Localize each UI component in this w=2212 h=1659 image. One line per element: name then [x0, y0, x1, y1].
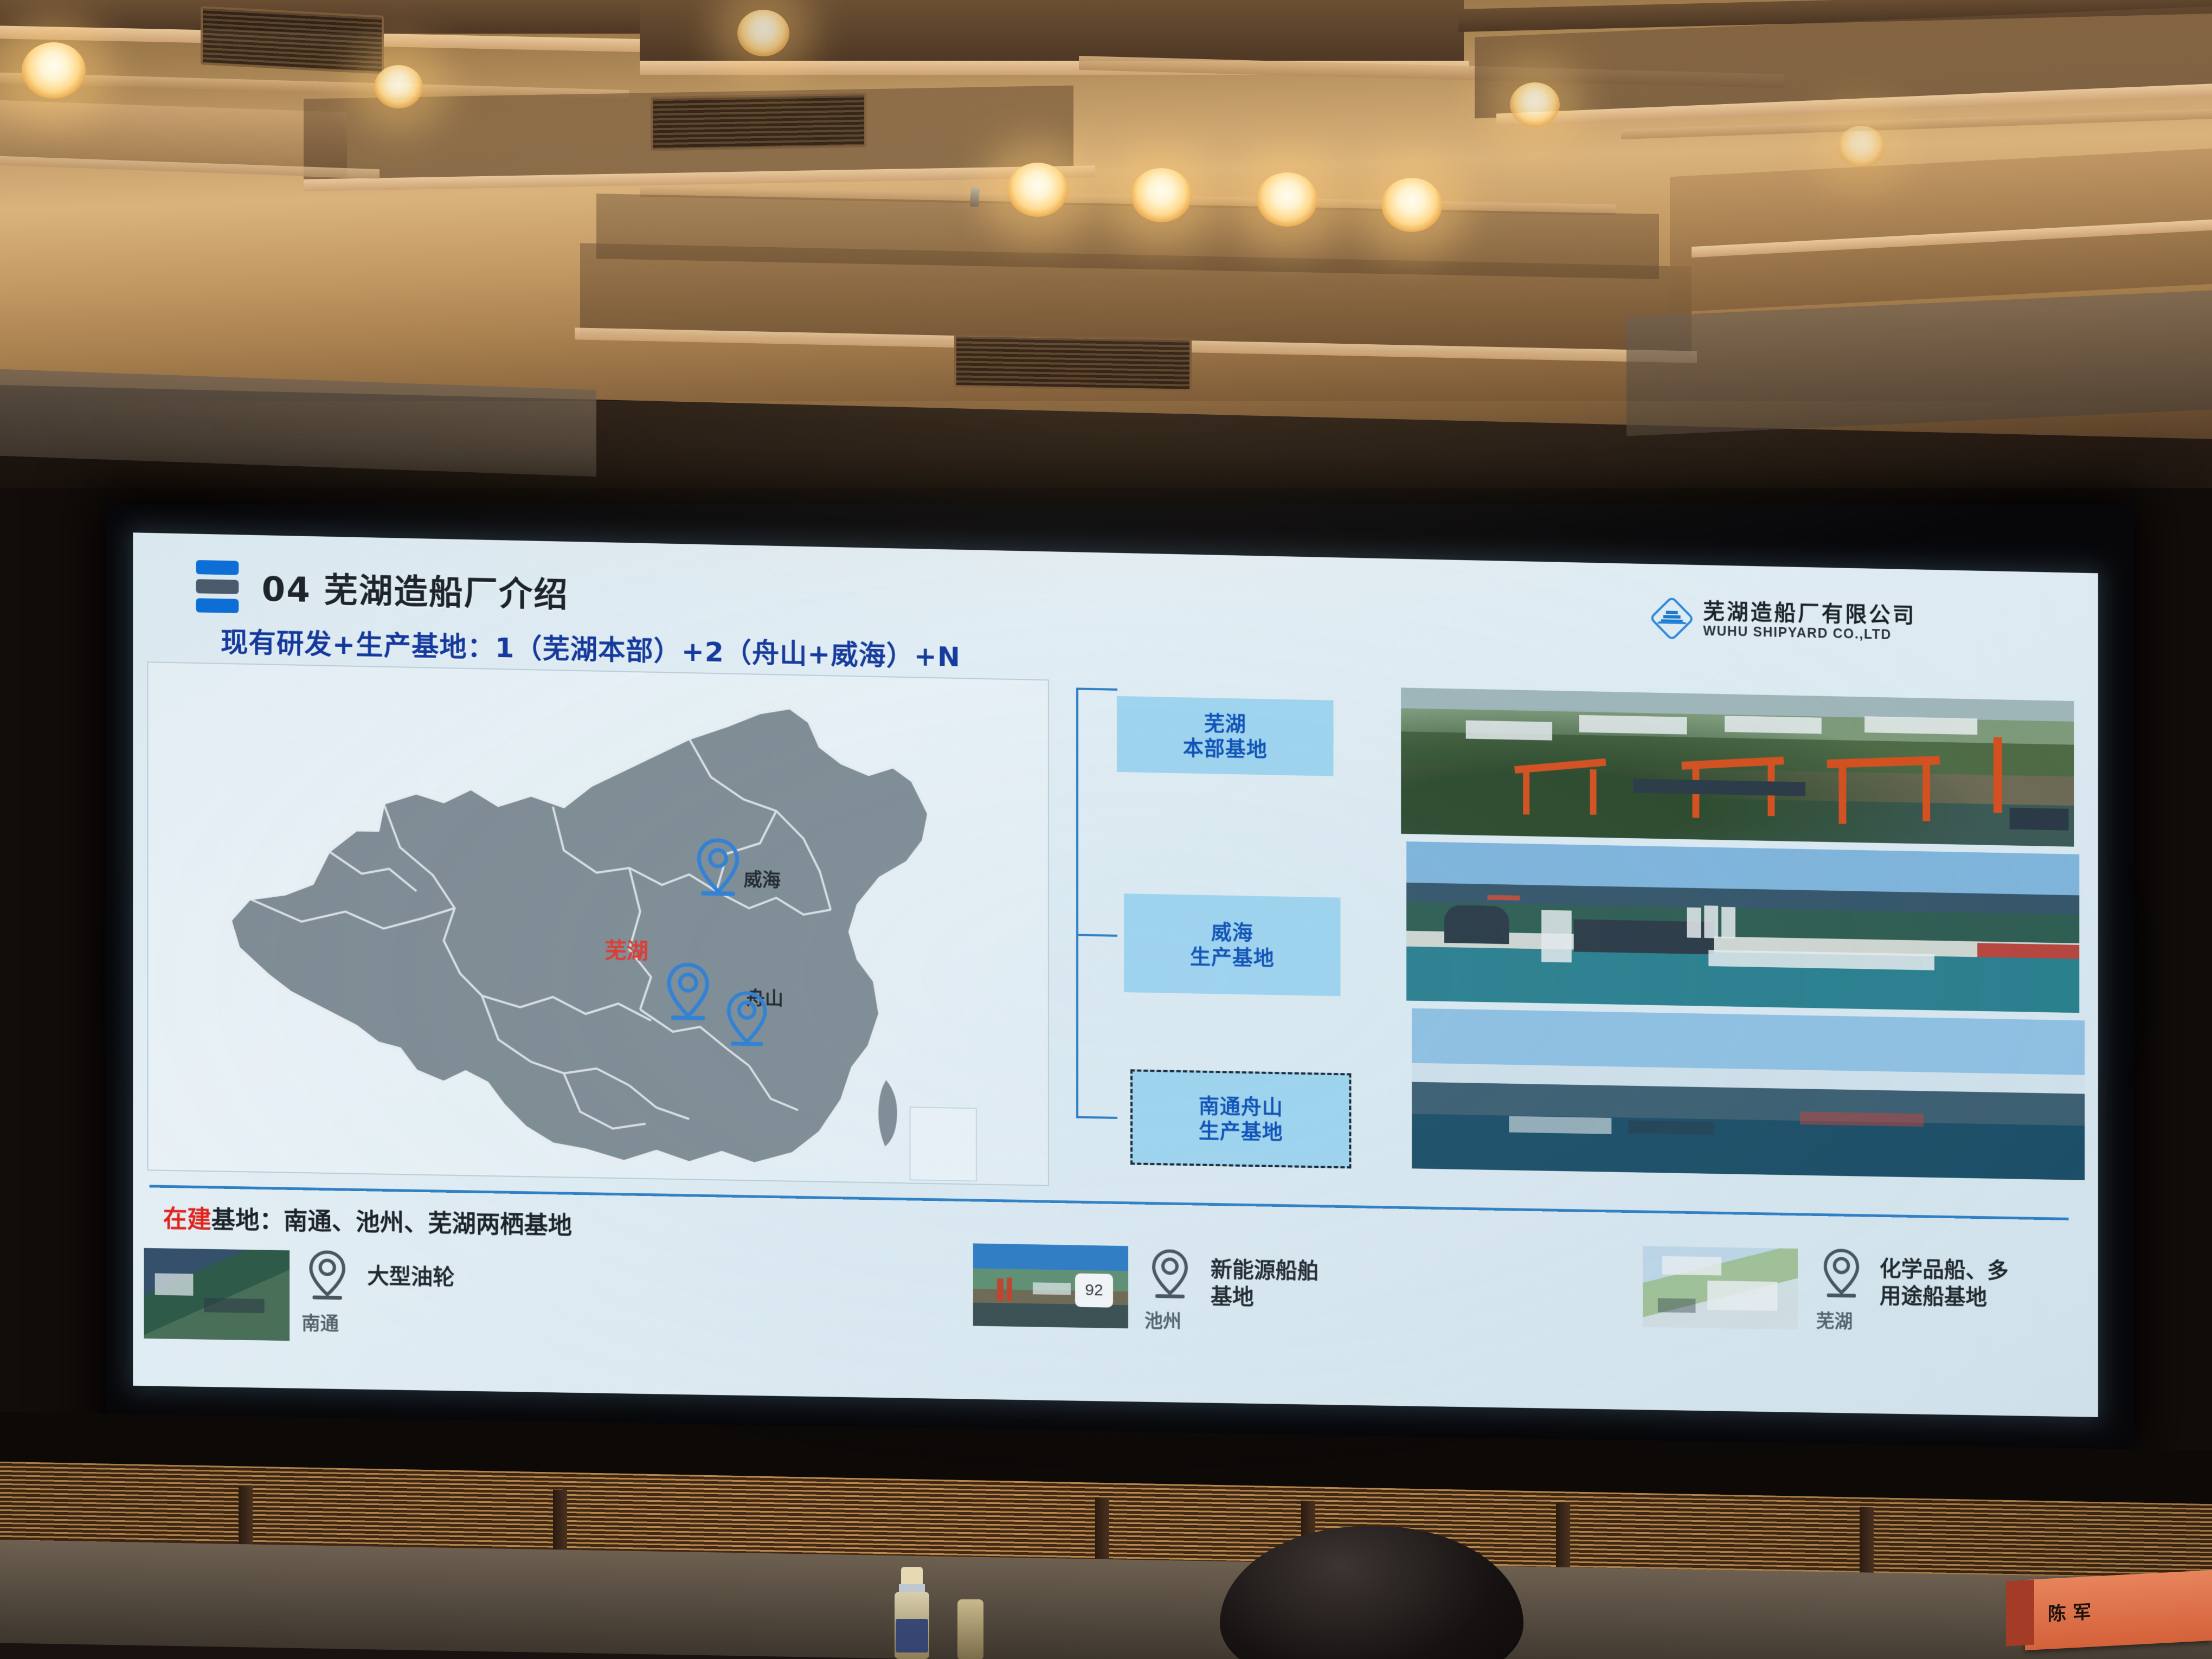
- pin-city-nantong: 南通: [301, 1308, 339, 1335]
- ceiling-light: [22, 42, 86, 99]
- name-card: 陈 军: [2025, 1570, 2212, 1650]
- ceiling-light: [1838, 126, 1885, 167]
- logo-company-cn: 芜湖造船厂有限公司: [1703, 600, 1916, 628]
- name-card-text: 陈 军: [2048, 1597, 2091, 1626]
- water-bottle: [889, 1567, 935, 1659]
- photo-wuhu-base: [1401, 687, 2074, 846]
- map-label-weihai: 威海: [744, 865, 781, 892]
- page-title: 04 芜湖造船厂介绍: [262, 561, 569, 616]
- node-line1: 芜湖: [1183, 710, 1268, 737]
- node-line2: 本部基地: [1183, 735, 1268, 762]
- map-label-wuhu: 芜湖: [605, 933, 648, 965]
- ship-diamond-logo-icon: [1649, 595, 1694, 641]
- under-construction-line: 在建基地：南通、池州、芜湖两栖基地: [163, 1199, 572, 1241]
- node-box-weihai[interactable]: 威海 生产基地: [1124, 893, 1340, 996]
- sprinkler-head: [970, 187, 980, 207]
- ceiling-vent: [651, 93, 866, 151]
- map-pin-weihai[interactable]: [695, 837, 741, 900]
- ceiling-light: [374, 65, 423, 108]
- map-pin-wuhu[interactable]: [665, 961, 711, 1025]
- photo-zhoushan-base: [1412, 1008, 2085, 1180]
- ceiling-light: [737, 10, 789, 56]
- south-china-sea-inset: [910, 1107, 977, 1181]
- pin-city-chizhou: 池州: [1144, 1306, 1181, 1333]
- thumb-badge-92: 92: [1075, 1274, 1113, 1308]
- three-bars-icon: [196, 560, 239, 613]
- node-box-nantong-zhoushan[interactable]: 南通舟山 生产基地: [1130, 1069, 1351, 1168]
- bottom-label-chizhou: 新能源船舶 基地: [1211, 1256, 1319, 1312]
- bottom-label-wuhu: 化学品船、多 用途船基地: [1880, 1256, 2009, 1312]
- photo-weihai-base: [1406, 841, 2079, 1013]
- map-pin-zhoushan[interactable]: [724, 989, 769, 1051]
- ceiling-light: [1131, 168, 1192, 222]
- node-line1: 南通舟山: [1199, 1093, 1283, 1120]
- ceiling-light: [1510, 82, 1560, 127]
- location-pin-icon: [1150, 1248, 1190, 1303]
- pin-city-wuhu: 芜湖: [1816, 1306, 1853, 1333]
- map-panel: 威海 芜湖 舟山: [147, 661, 1049, 1186]
- ceiling-vent: [201, 6, 384, 74]
- ceiling-vent: [954, 334, 1192, 391]
- nantong-thumb: [144, 1248, 290, 1341]
- ceiling-light: [1257, 172, 1317, 227]
- company-logo: 芜湖造船厂有限公司 WUHU SHIPYARD CO.,LTD: [1649, 595, 1916, 646]
- node-line1: 威海: [1190, 919, 1275, 946]
- node-line2: 生产基地: [1199, 1118, 1283, 1145]
- presentation-slide: 04 芜湖造船厂介绍 芜湖造船厂有限公司 WUHU SHIPYARD CO.,L…: [133, 532, 2098, 1417]
- water-bottle: [954, 1599, 987, 1659]
- ceiling-light: [1381, 178, 1442, 232]
- under-construction-rest: 基地：南通、池州、芜湖两栖基地: [211, 1206, 572, 1240]
- ceiling-light: [1007, 163, 1068, 217]
- node-line2: 生产基地: [1190, 944, 1275, 970]
- under-construction-tag: 在建: [163, 1205, 211, 1234]
- node-box-wuhu-hq[interactable]: 芜湖 本部基地: [1117, 696, 1333, 776]
- name-card-side: [2006, 1580, 2034, 1647]
- bottom-label-nantong: 大型油轮: [367, 1263, 454, 1291]
- location-pin-icon: [307, 1249, 348, 1304]
- wuhu-thumb: [1643, 1246, 1798, 1329]
- location-pin-icon: [1822, 1247, 1861, 1302]
- conference-room: 04 芜湖造船厂介绍 芜湖造船厂有限公司 WUHU SHIPYARD CO.,L…: [0, 0, 2212, 1659]
